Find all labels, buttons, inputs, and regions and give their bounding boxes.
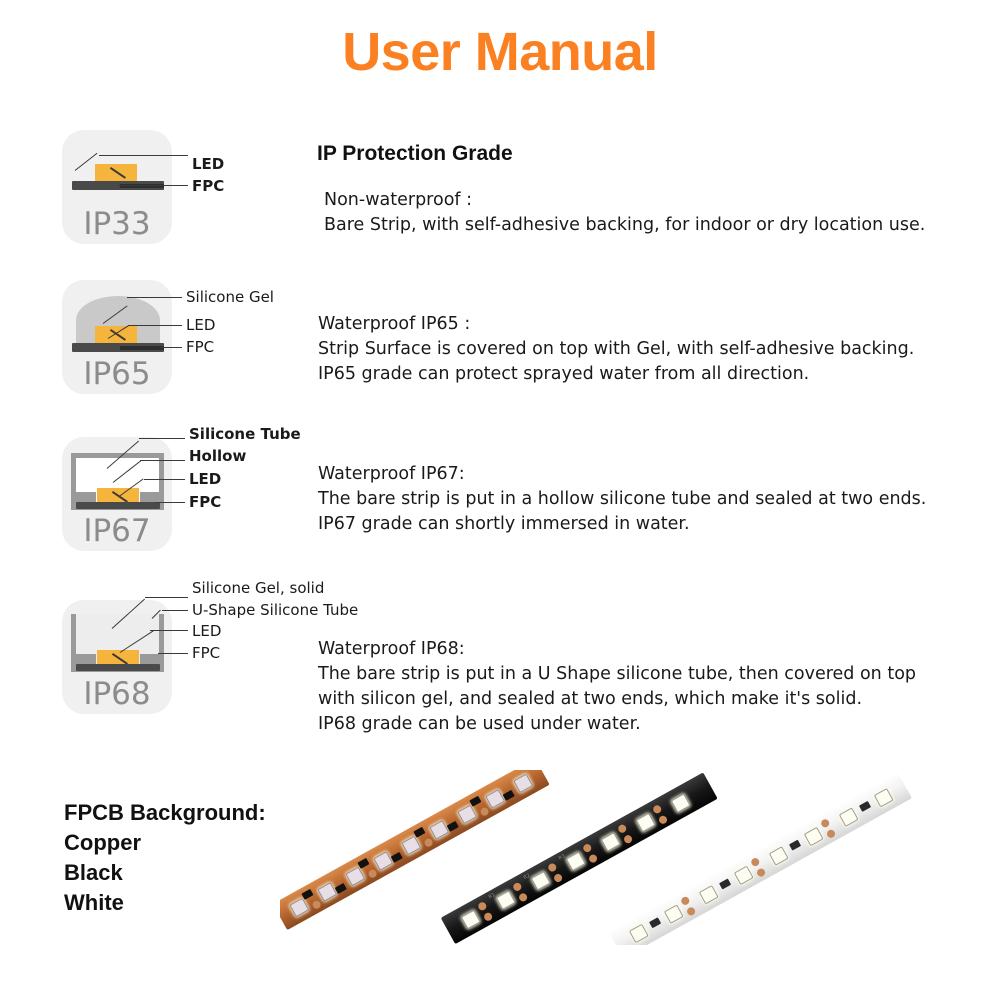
led-chip-icon xyxy=(95,164,137,181)
callout-label-hollow: Hollow xyxy=(189,448,246,465)
leader-line xyxy=(118,185,188,186)
callout-label-led: LED xyxy=(186,317,215,334)
section-body-ip68: Waterproof IP68: The bare strip is put i… xyxy=(318,637,988,737)
fpc-bar-icon xyxy=(76,502,160,509)
badge-code-ip33: IP33 xyxy=(62,209,172,240)
ip-badge-ip68: IP68 xyxy=(62,600,172,714)
strip-components xyxy=(609,772,912,945)
leader-line xyxy=(127,297,182,298)
callout-label-u-shape-silicone-tube: U-Shape Silicone Tube xyxy=(192,602,358,619)
page-title: User Manual xyxy=(0,24,1000,81)
callout-label-fpc: FPC xyxy=(189,494,221,511)
leader-line xyxy=(162,610,188,611)
leader-line xyxy=(158,653,188,654)
badge-code-ip65: IP65 xyxy=(62,359,172,390)
led-chip-icon xyxy=(97,650,139,665)
leader-line xyxy=(140,460,185,461)
callout-label-fpc: FPC xyxy=(186,339,214,356)
leader-line xyxy=(145,597,188,598)
leader-line xyxy=(128,325,182,326)
leader-line xyxy=(155,502,185,503)
leader-line xyxy=(144,479,185,480)
ip-badge-ip67: IP67 xyxy=(62,437,172,551)
user-manual-page: User Manual IP33 LED FPC IP Protection G… xyxy=(0,0,1000,1000)
leader-line xyxy=(139,438,185,439)
callout-label-led: LED xyxy=(192,623,221,640)
callout-label-led: LED xyxy=(192,156,224,173)
fpc-bar-shadow-icon xyxy=(120,346,164,350)
leader-line xyxy=(160,347,182,348)
badge-code-ip67: IP67 xyxy=(62,516,172,547)
led-chip-icon xyxy=(95,326,137,343)
section-body-ip67: Waterproof IP67: The bare strip is put i… xyxy=(318,462,978,537)
section-body-ip65: Waterproof IP65 : Strip Surface is cover… xyxy=(318,312,978,387)
section-heading-ip-protection-grade: IP Protection Grade xyxy=(317,142,513,166)
section-body-ip33: Non-waterproof : Bare Strip, with self-a… xyxy=(324,188,974,238)
callout-label-led: LED xyxy=(189,471,221,488)
fpcb-background-label: FPCB Background: Copper Black White xyxy=(64,798,266,918)
callout-label-silicone-tube: Silicone Tube xyxy=(189,426,301,443)
callout-label-fpc: FPC xyxy=(192,645,220,662)
ip-badge-ip33: IP33 xyxy=(62,130,172,244)
callout-label-silicone-gel: Silicone Gel xyxy=(186,289,274,306)
callout-label-silicone-gel-solid: Silicone Gel, solid xyxy=(192,580,324,597)
fpc-bar-icon xyxy=(76,664,160,671)
leader-line xyxy=(99,155,188,156)
led-strip-photos: R1 R2 R3 xyxy=(280,770,1000,945)
led-strip-white xyxy=(609,772,912,945)
badge-code-ip68: IP68 xyxy=(62,679,172,710)
callout-label-fpc: FPC xyxy=(192,178,224,195)
leader-line xyxy=(150,630,188,631)
